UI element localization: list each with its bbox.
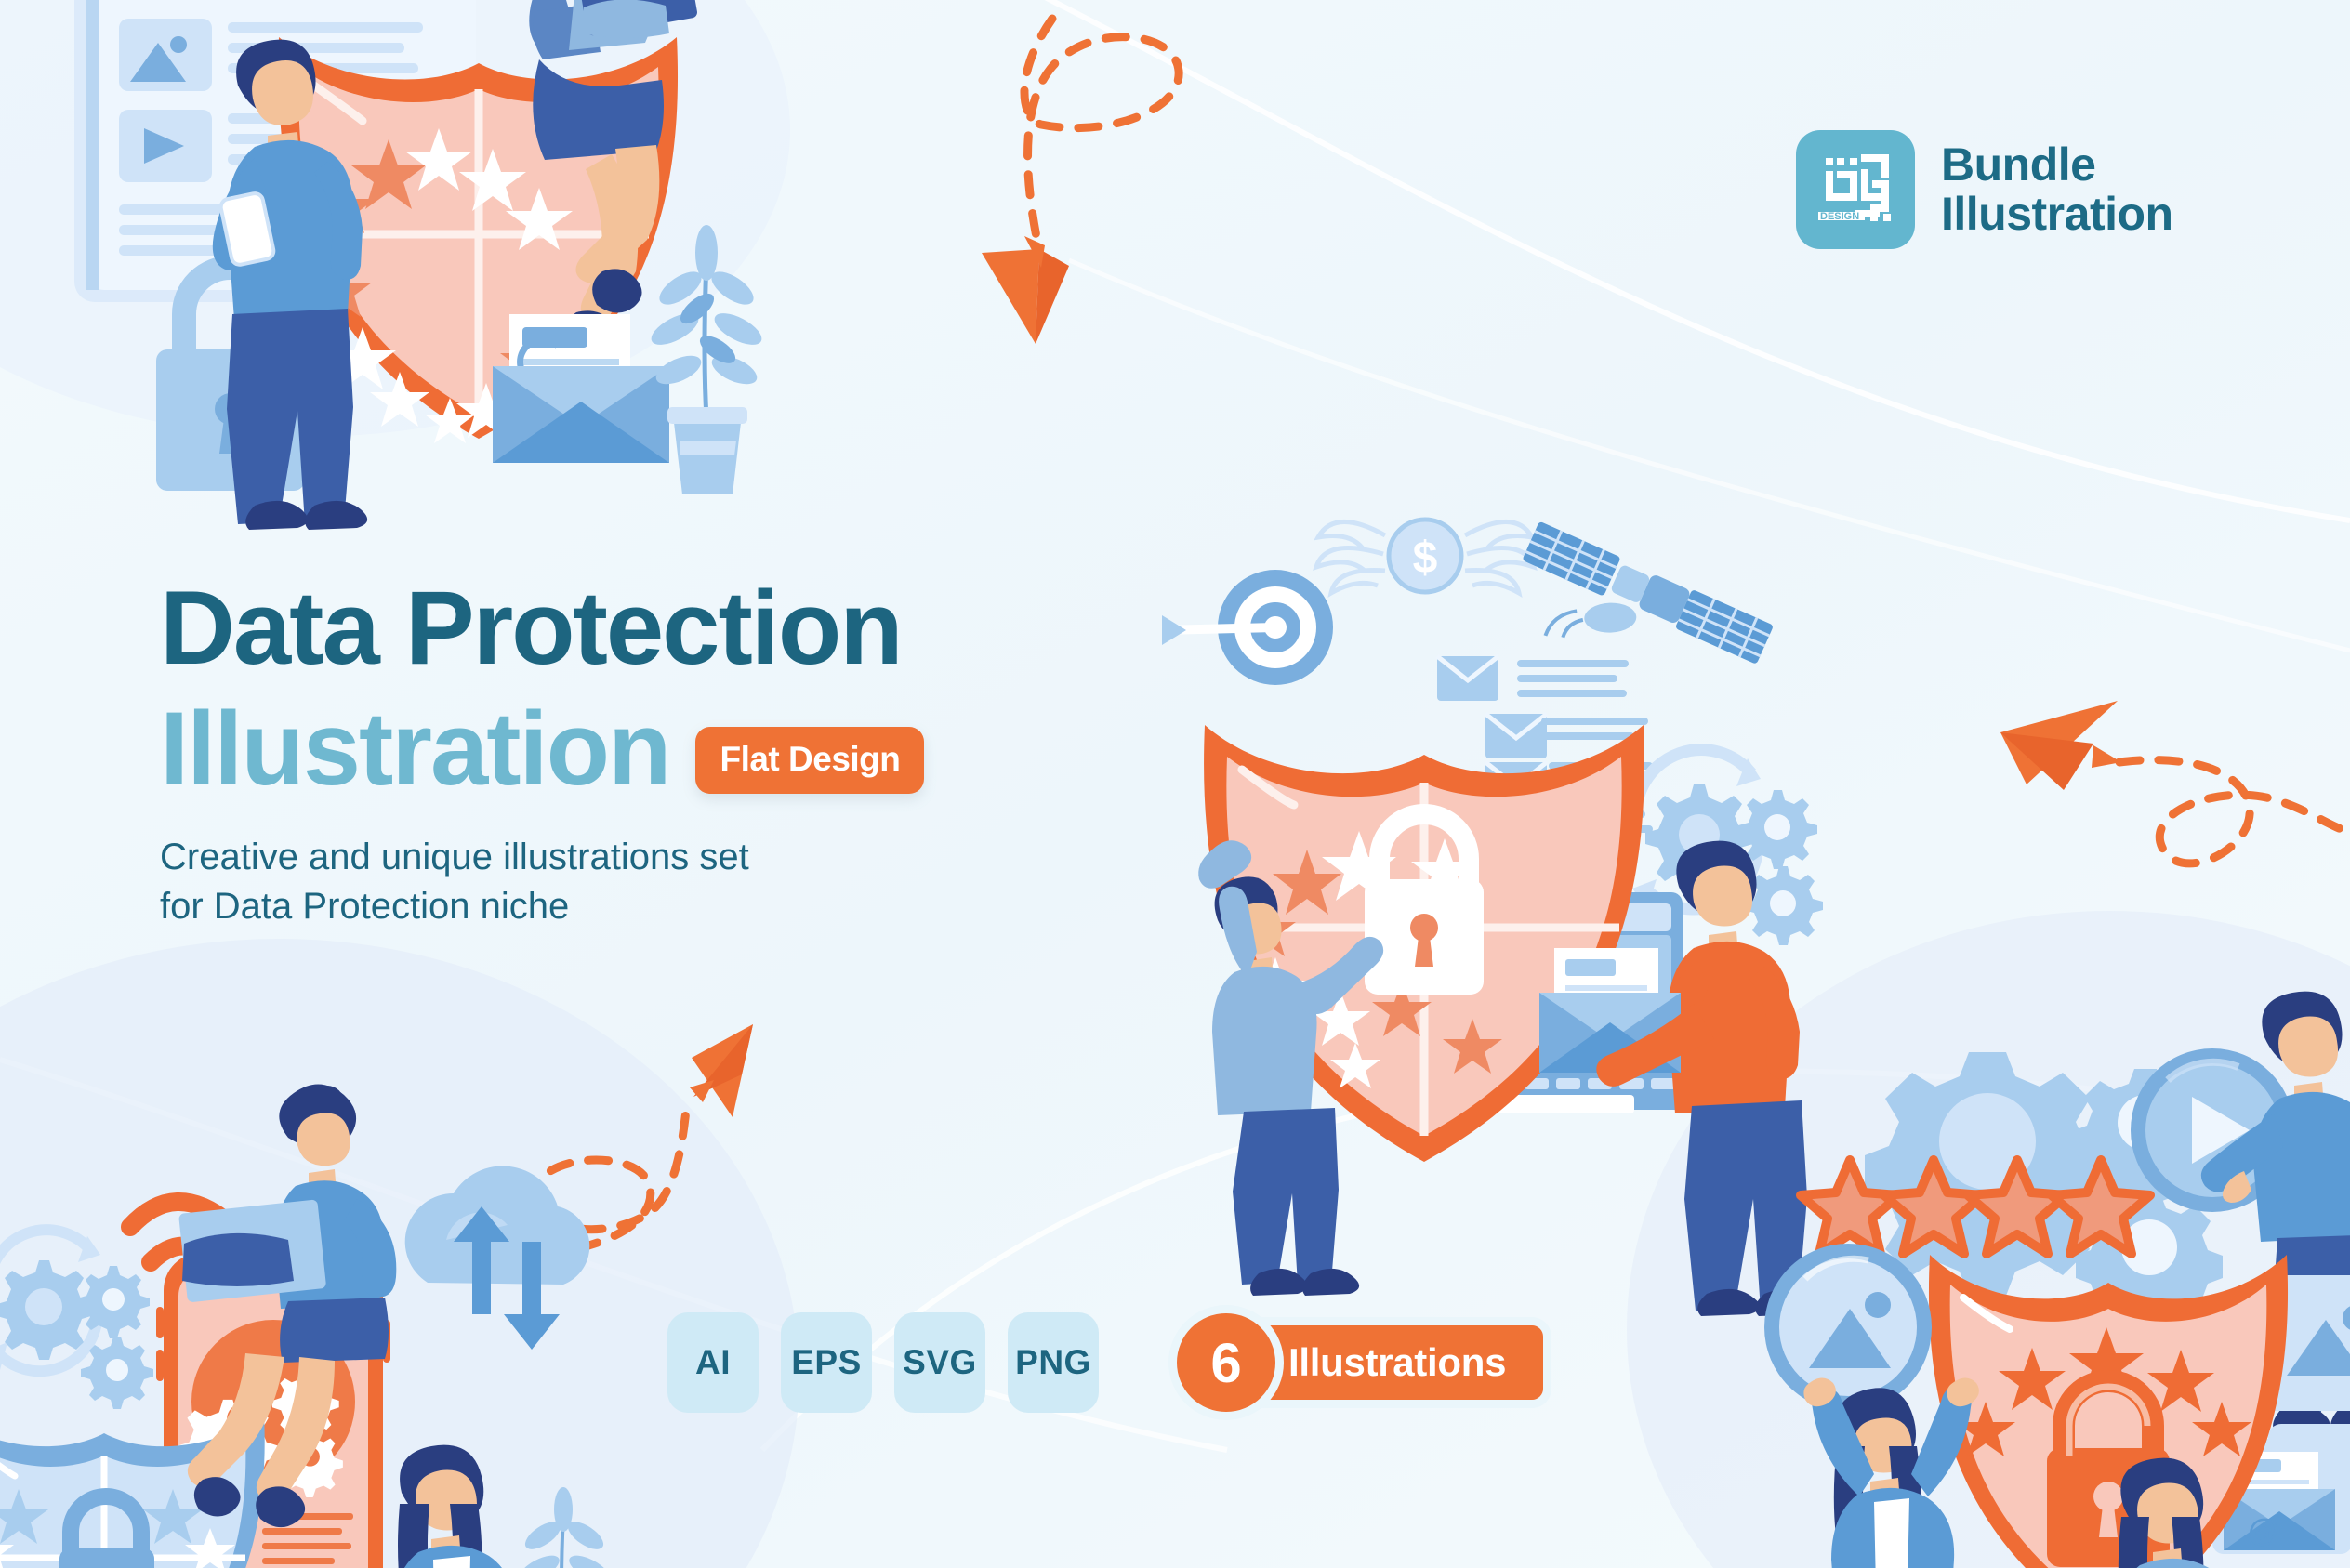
winged-dollar-coin: $ xyxy=(1316,520,1534,593)
poster-canvas: $ xyxy=(0,0,2350,1568)
illustration-count-badge: 6 Illustrations xyxy=(1177,1313,1543,1412)
subtitle-line-1: Creative and unique illustrations set xyxy=(160,833,1145,882)
illustration-top-left xyxy=(56,0,762,465)
logo-wordmark: Bundle Illustration xyxy=(1941,140,2173,240)
email-envelope xyxy=(493,314,669,463)
subtitle-line-2: for Data Protection niche xyxy=(160,882,1145,931)
cloud-sync-icon xyxy=(405,1166,590,1350)
subtitle: Creative and unique illustrations set fo… xyxy=(160,833,1145,931)
page-title-line-1: Data Protection xyxy=(160,576,1145,680)
illustration-count-number: 6 xyxy=(1177,1313,1275,1412)
format-badge-svg: SVG xyxy=(894,1312,985,1413)
format-badge-row: AI EPS SVG PNG 6 Illustrations xyxy=(667,1312,1543,1413)
format-badge-png: PNG xyxy=(1008,1312,1099,1413)
svg-text:DESIGN: DESIGN xyxy=(1820,211,1859,222)
illustration-bottom-right: @ xyxy=(1748,1004,2350,1568)
satellite-icon xyxy=(1498,521,1774,719)
format-badge-ai: AI xyxy=(667,1312,759,1413)
illustration-bottom-left xyxy=(0,1013,651,1568)
logo-line-2: Illustration xyxy=(1941,190,2173,240)
headline-block: Data Protection Illustration Flat Design… xyxy=(160,576,1145,931)
baraka-design-kufic-logo: DESIGN xyxy=(1796,130,1915,249)
flat-design-badge: Flat Design xyxy=(695,727,924,794)
page-title-line-2: Illustration xyxy=(160,697,669,801)
target-icon xyxy=(1162,570,1333,685)
svg-text:@: @ xyxy=(2248,1513,2278,1548)
brand-logo: DESIGN Bundle Illustration xyxy=(1796,130,2173,249)
kufic-glyph: DESIGN xyxy=(1813,152,1898,227)
gears-cycle-icon xyxy=(0,1230,153,1409)
illustration-center: $ xyxy=(1162,483,1831,1078)
plant-icon xyxy=(515,1487,614,1568)
illustration-count-label: Illustrations xyxy=(1233,1325,1543,1400)
paper-plane-left-icon xyxy=(1980,688,2350,967)
paper-plane-down-icon xyxy=(948,9,1208,400)
logo-line-1: Bundle xyxy=(1941,140,2173,191)
format-badge-eps: EPS xyxy=(781,1312,872,1413)
svg-text:$: $ xyxy=(1413,534,1438,583)
